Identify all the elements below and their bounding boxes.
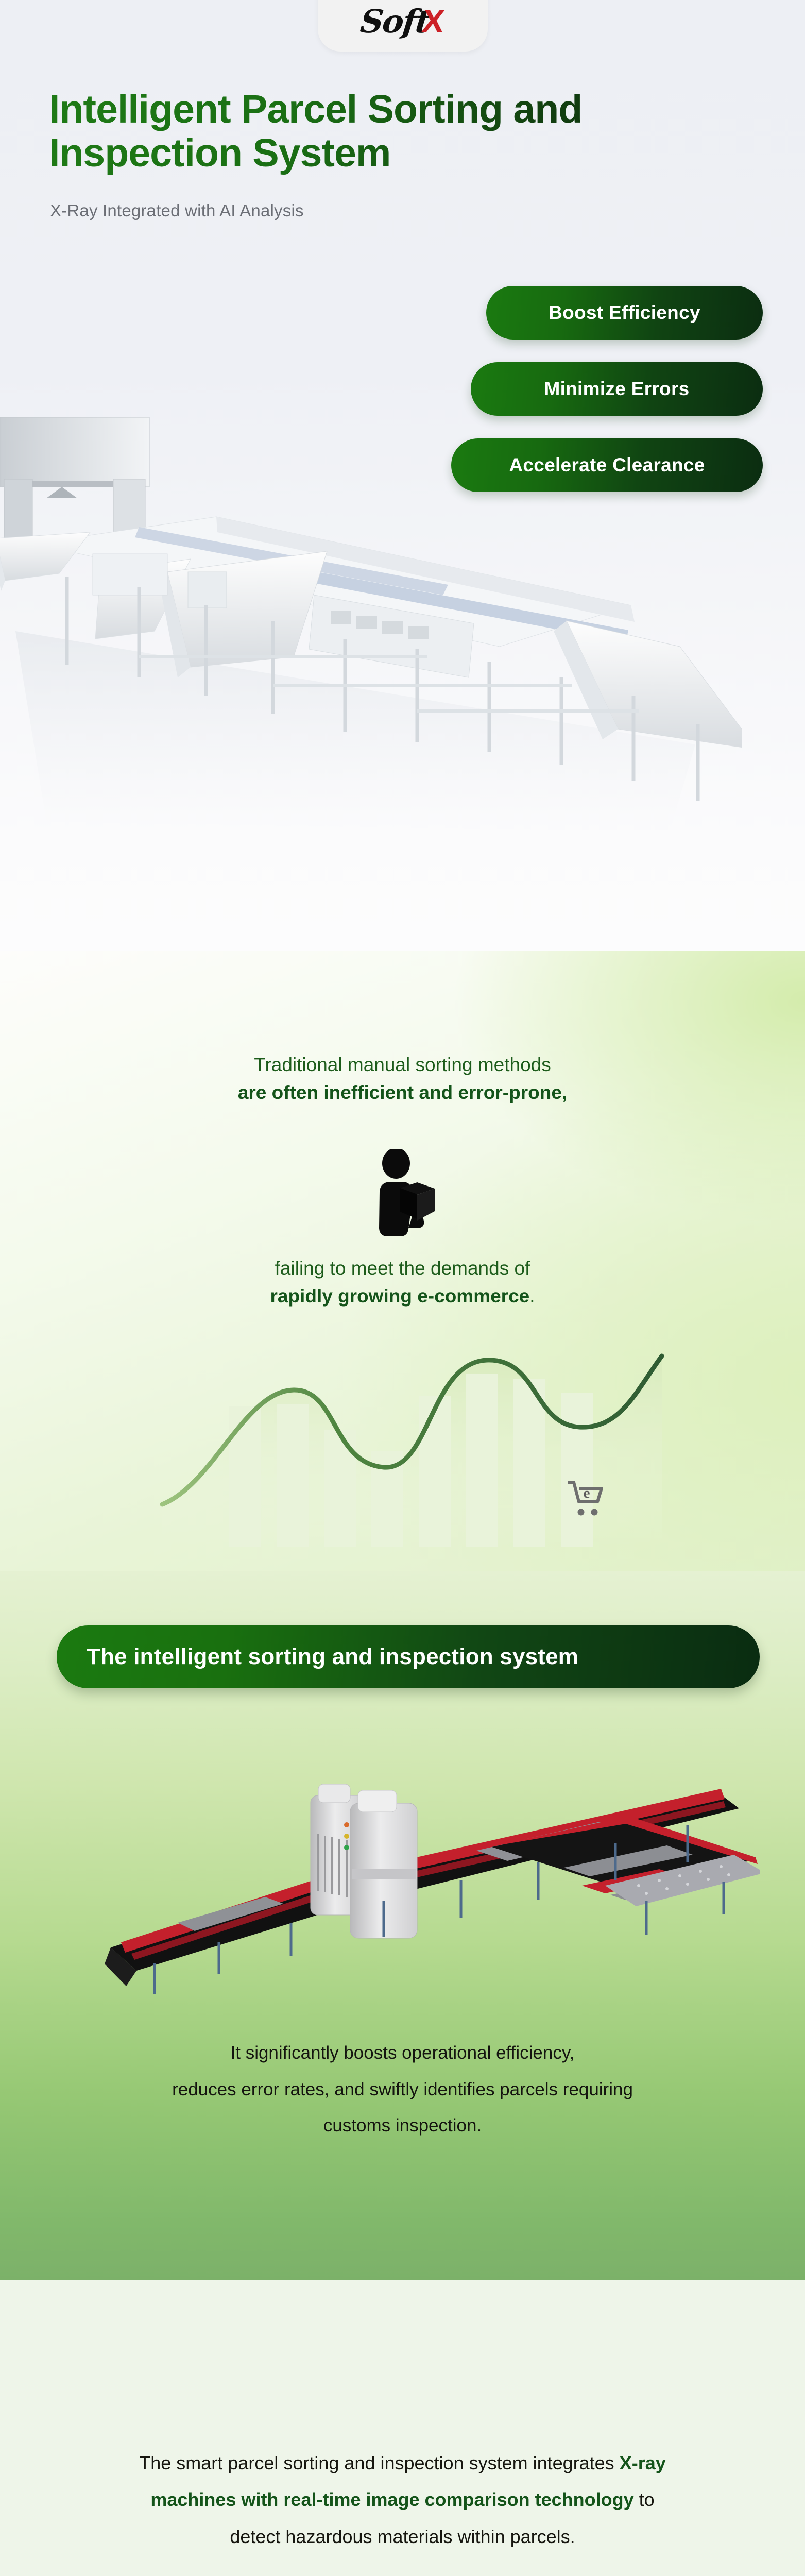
- detail-p1-seg1: The smart parcel sorting and inspection …: [139, 2452, 619, 2473]
- problem-line-4: rapidly growing e-commerce.: [0, 1282, 805, 1310]
- brand-logo-tab[interactable]: Soft X: [318, 0, 488, 52]
- problem-section: Traditional manual sorting methods are o…: [0, 951, 805, 1571]
- brand-logo: Soft X: [361, 2, 444, 40]
- sorting-line-photo: [0, 389, 742, 832]
- infographic-page: Soft X Intelligent Parcel Sorting and In…: [0, 0, 805, 2576]
- solution-line-2: reduces error rates, and swiftly identif…: [0, 2072, 805, 2108]
- page-title: Intelligent Parcel Sorting and Inspectio…: [49, 88, 739, 176]
- problem-line-3: failing to meet the demands of: [0, 1255, 805, 1282]
- e-commerce-cart-icon: e: [566, 1477, 606, 1517]
- cart-letter: e: [584, 1485, 590, 1501]
- problem-statement-2: failing to meet the demands of rapidly g…: [0, 1255, 805, 1310]
- badge-boost-efficiency[interactable]: Boost Efficiency: [486, 286, 763, 340]
- problem-line-1: Traditional manual sorting methods: [0, 1051, 805, 1079]
- detail-section: The smart parcel sorting and inspection …: [0, 2280, 805, 2576]
- logo-x-text: X: [420, 2, 447, 40]
- solution-body: It significantly boosts operational effi…: [0, 2035, 805, 2144]
- sorting-system-3d-render: [49, 1731, 760, 2012]
- solution-line-3: customs inspection.: [0, 2108, 805, 2144]
- hero-section: Soft X Intelligent Parcel Sorting and In…: [0, 0, 805, 951]
- solution-headline-pill[interactable]: The intelligent sorting and inspection s…: [57, 1625, 760, 1688]
- detail-paragraph-1: The smart parcel sorting and inspection …: [0, 2445, 805, 2555]
- solution-line-1: It significantly boosts operational effi…: [0, 2035, 805, 2072]
- problem-statement-1: Traditional manual sorting methods are o…: [0, 1051, 805, 1106]
- ecommerce-growth-chart: [157, 1329, 667, 1551]
- person-carrying-package-icon: [364, 1149, 441, 1239]
- solution-section: The intelligent sorting and inspection s…: [0, 1571, 805, 2280]
- page-subtitle: X-Ray Integrated with AI Analysis: [50, 201, 304, 221]
- problem-line-2: are often inefficient and error-prone,: [0, 1079, 805, 1107]
